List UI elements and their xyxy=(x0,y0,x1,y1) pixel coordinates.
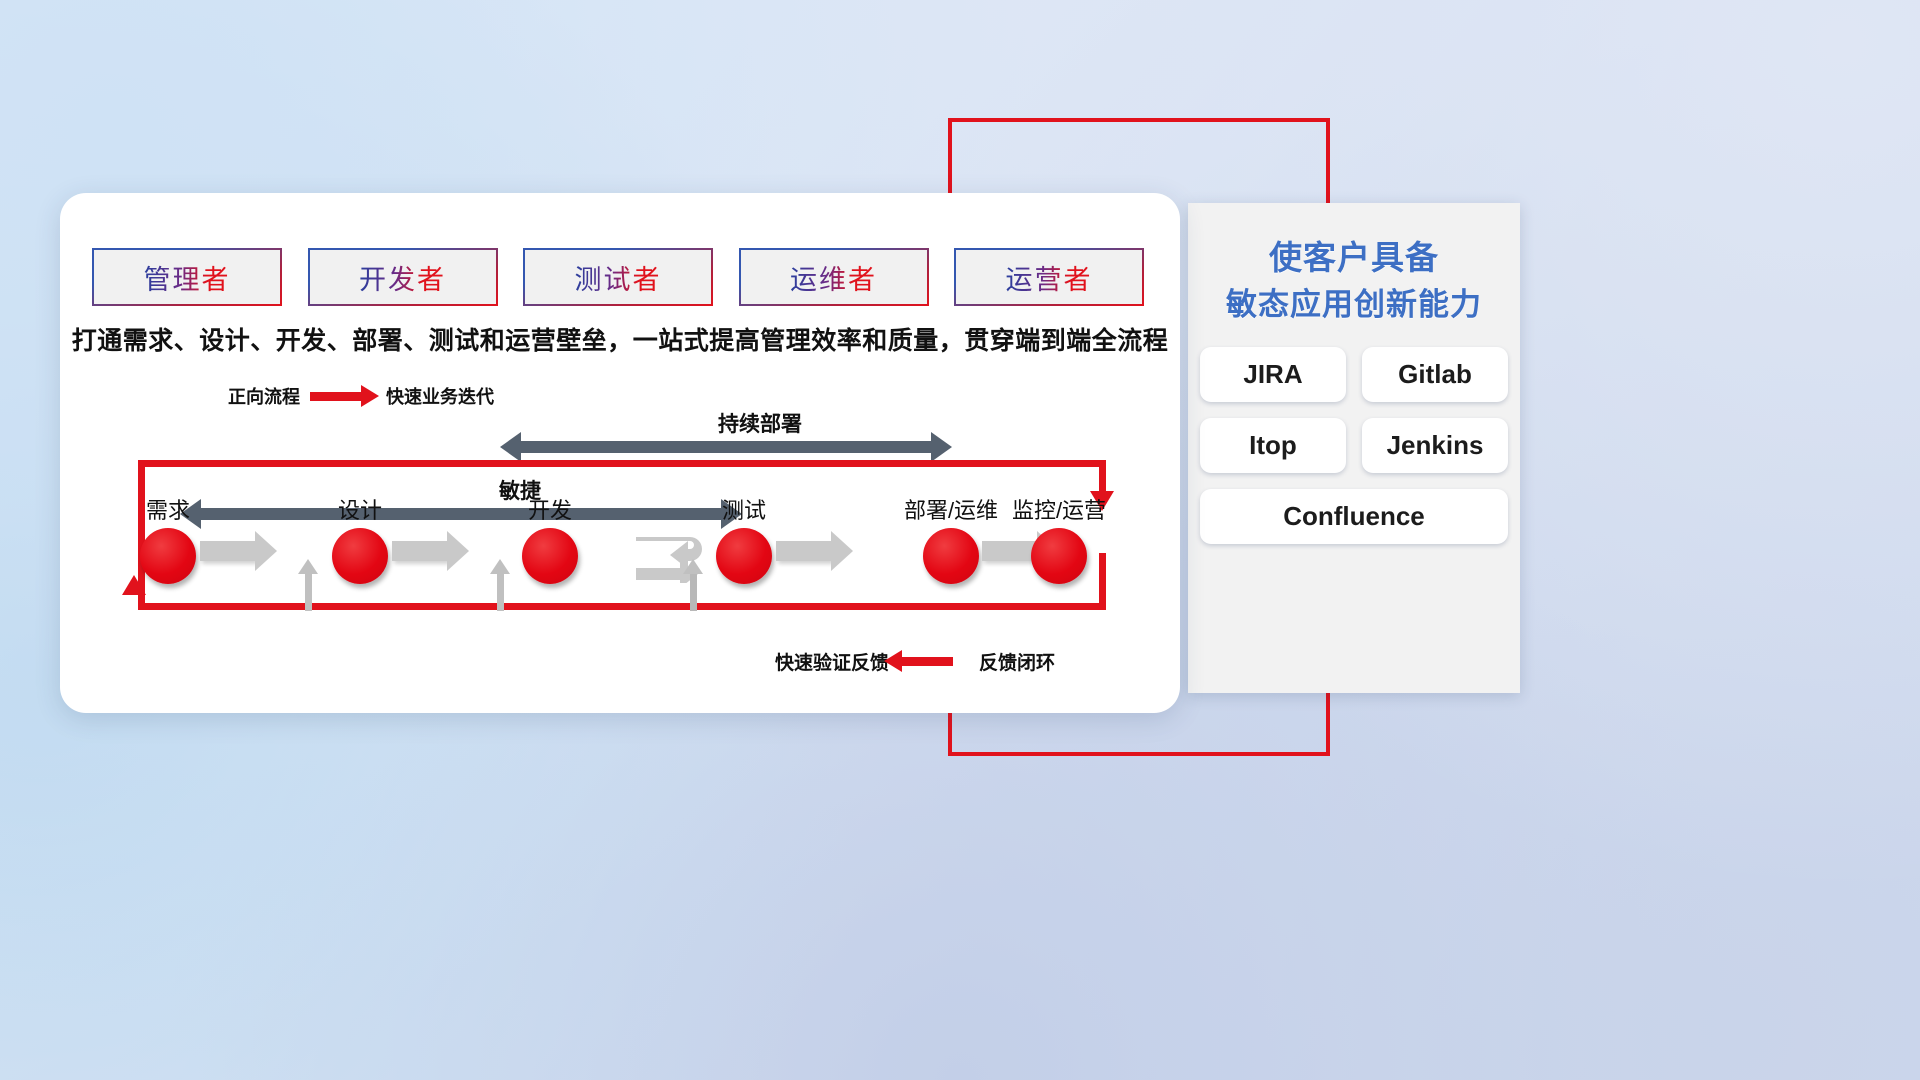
panel-title-line1: 使客户具备 xyxy=(1188,237,1520,279)
red-connector-bottom-bar xyxy=(948,752,1330,756)
pipeline-uptick-test-icon xyxy=(690,573,697,611)
role-box-manager[interactable]: 管理者 xyxy=(92,248,282,306)
tool-chip-gitlab[interactable]: Gitlab xyxy=(1362,347,1508,402)
tool-chip-jira[interactable]: JIRA xyxy=(1200,347,1346,402)
node-label: 开发 xyxy=(482,493,618,525)
phase-label-continuous-deployment: 持续部署 xyxy=(660,408,860,438)
red-left-arrow-icon xyxy=(901,657,953,666)
node-circle-icon xyxy=(522,528,578,584)
pipeline-connector-arrow-icon xyxy=(200,541,256,561)
role-label: 运维者 xyxy=(790,258,877,297)
legend-forward-flow: 正向流程 快速业务迭代 xyxy=(228,383,494,409)
tool-chip-confluence[interactable]: Confluence xyxy=(1200,489,1508,544)
node-circle-icon xyxy=(923,528,979,584)
role-label: 运营者 xyxy=(1006,258,1093,297)
legend-feedback-left-label: 快速验证反馈 xyxy=(775,648,889,675)
role-box-developer[interactable]: 开发者 xyxy=(308,248,498,306)
role-label: 测试者 xyxy=(575,258,662,297)
node-label: 监控/运营 xyxy=(976,493,1142,525)
devops-diagram-card: 管理者 开发者 测试者 运维者 运营者 打通需求、设计、开发、部署、测试和运营壁… xyxy=(60,193,1180,713)
role-box-ops[interactable]: 运维者 xyxy=(739,248,929,306)
legend-forward-left-label: 正向流程 xyxy=(228,383,300,409)
node-label: 测试 xyxy=(676,493,812,525)
role-box-inner: 运维者 xyxy=(741,250,927,304)
role-box-row: 管理者 开发者 测试者 运维者 运营者 xyxy=(92,248,1144,306)
role-box-inner: 开发者 xyxy=(310,250,496,304)
role-box-operations[interactable]: 运营者 xyxy=(954,248,1144,306)
role-label: 管理者 xyxy=(144,258,231,297)
role-box-inner: 测试者 xyxy=(525,250,711,304)
tool-chip-jenkins[interactable]: Jenkins xyxy=(1362,418,1508,473)
node-circle-icon xyxy=(1031,528,1087,584)
legend-forward-right-label: 快速业务迭代 xyxy=(386,383,494,409)
role-box-tester[interactable]: 测试者 xyxy=(523,248,713,306)
tool-chip-itop[interactable]: Itop xyxy=(1200,418,1346,473)
pipeline-node-requirement[interactable]: 需求 xyxy=(100,493,236,584)
panel-title-line2: 敏态应用创新能力 xyxy=(1188,285,1520,325)
node-circle-icon xyxy=(332,528,388,584)
node-circle-icon xyxy=(716,528,772,584)
card-description: 打通需求、设计、开发、部署、测试和运营壁垒，一站式提高管理效率和质量，贯穿端到端… xyxy=(60,321,1180,357)
red-right-arrow-icon xyxy=(310,392,362,401)
role-box-inner: 管理者 xyxy=(94,250,280,304)
node-circle-icon xyxy=(140,528,196,584)
pipeline-node-monitor-operations[interactable]: 监控/运营 xyxy=(976,493,1142,584)
value-proposition-panel: 使客户具备 敏态应用创新能力 JIRA Gitlab Itop Jenkins … xyxy=(1188,203,1520,693)
pipeline-uptick-develop-icon xyxy=(497,573,504,611)
role-label: 开发者 xyxy=(359,258,446,297)
pipeline-uptick-design-icon xyxy=(305,573,312,611)
legend-feedback-right-label: 反馈闭环 xyxy=(979,648,1055,675)
pipeline-connector-arrow-icon xyxy=(392,541,448,561)
role-box-inner: 运营者 xyxy=(956,250,1142,304)
node-label: 设计 xyxy=(292,493,428,525)
phase-arrow-continuous-deployment xyxy=(520,441,932,453)
devops-pipeline: 需求 设计 开发 测试 部署/运维 xyxy=(60,493,1180,623)
tool-chip-list: JIRA Gitlab Itop Jenkins Confluence xyxy=(1188,347,1520,544)
pipeline-connector-arrow-icon xyxy=(776,541,832,561)
node-label: 需求 xyxy=(100,493,236,525)
feedback-loop-top-edge xyxy=(138,460,1106,467)
legend-feedback-loop: 快速验证反馈 反馈闭环 xyxy=(775,648,1055,675)
